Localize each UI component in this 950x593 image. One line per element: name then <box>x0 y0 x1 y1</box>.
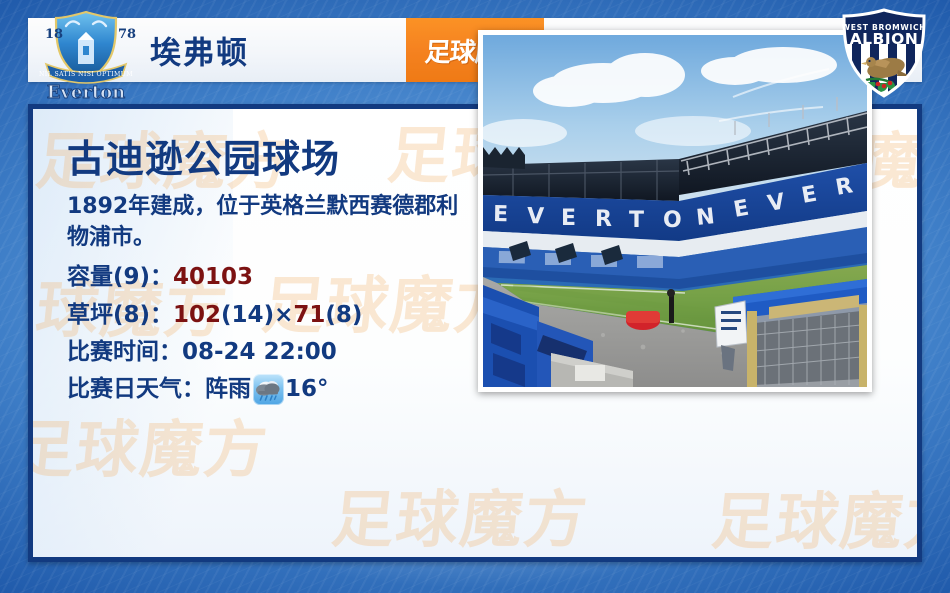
rain-shower-icon <box>253 374 284 405</box>
stadium-title: 古迪逊公园球场 <box>67 139 487 181</box>
pitch-width-note: (8) <box>325 297 362 334</box>
svg-text:R: R <box>595 207 612 232</box>
svg-text:18: 18 <box>45 27 63 42</box>
west-bromwich-albion-crest-icon: WEST BROMWICH ALBION <box>826 4 942 104</box>
pitch-length-note: (14) <box>221 297 274 334</box>
stadium-details: 古迪逊公园球场 1892年建成，位于英格兰默西赛德郡利物浦市。 容量(9)： 4… <box>67 139 487 408</box>
match-weather-row: 比赛日天气： 阵雨 16° <box>67 371 487 408</box>
weather-condition: 阵雨 <box>205 371 251 408</box>
goodison-park-photo: E V E R T O N E V E R <box>483 35 867 387</box>
svg-text:ALBION: ALBION <box>850 30 919 48</box>
svg-text:NIL SATIS NISI OPTIMUM: NIL SATIS NISI OPTIMUM <box>39 71 133 78</box>
weather-temperature: 16° <box>285 371 329 408</box>
match-time-label: 比赛时间： <box>67 334 182 371</box>
pitch-row: 草坪(8)： 102 (14) × 71 (8) <box>67 297 487 334</box>
weather-label: 比赛日天气： <box>67 371 205 408</box>
pitch-width-value: 71 <box>293 297 325 334</box>
pitch-separator: × <box>274 297 293 334</box>
svg-text:Everton: Everton <box>47 82 126 102</box>
watermark-text: 足球魔方 <box>328 469 593 557</box>
svg-text:E: E <box>561 206 576 231</box>
svg-text:N: N <box>695 204 716 231</box>
pitch-length-value: 102 <box>173 297 221 334</box>
stadium-description: 1892年建成，位于英格兰默西赛德郡利物浦市。 <box>67 191 467 253</box>
stadium-photo-frame: E V E R T O N E V E R <box>478 30 872 392</box>
match-time-row: 比赛时间： 08-24 22:00 <box>67 334 487 371</box>
home-team-name: 埃弗顿 <box>150 28 249 73</box>
svg-text:V: V <box>527 204 544 229</box>
svg-text:O: O <box>663 208 682 233</box>
capacity-value: 40103 <box>173 259 253 296</box>
svg-text:E: E <box>493 202 508 227</box>
watermark-text: 足球魔方 <box>708 471 917 557</box>
pitch-label: 草坪(8)： <box>67 297 173 334</box>
match-time-value: 08-24 22:00 <box>182 334 337 371</box>
capacity-row: 容量(9)： 40103 <box>67 259 487 296</box>
everton-crest-icon: 18 78 NIL SATIS NISI OPTIMUM Everton <box>32 6 140 102</box>
match-stadium-card: 埃弗顿 足球魔方 西布朗 <box>0 0 950 593</box>
capacity-label: 容量(9)： <box>67 259 173 296</box>
svg-text:T: T <box>629 208 644 233</box>
watermark-text: 足球魔方 <box>33 399 274 489</box>
svg-text:78: 78 <box>118 27 136 42</box>
